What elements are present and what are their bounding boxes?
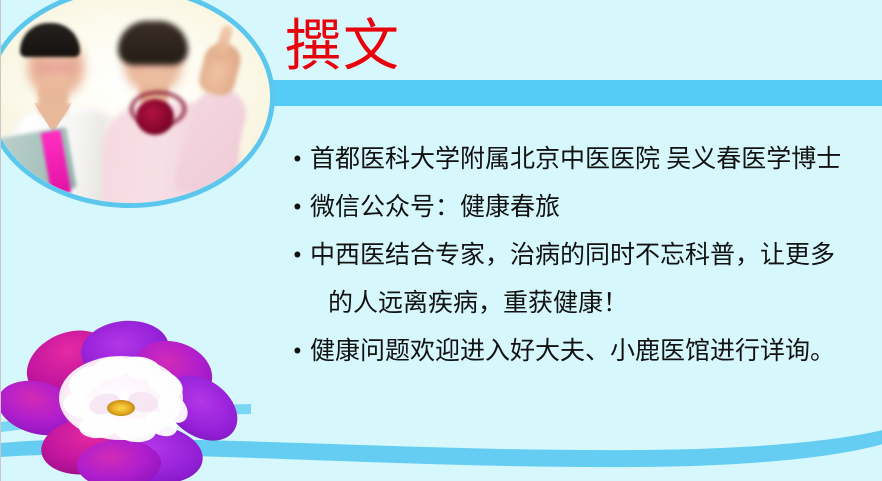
- list-item-text: 的人远离疾病，重获健康！: [310, 280, 881, 328]
- bullet-dot-icon: •: [293, 232, 310, 280]
- left-doctor-cap: [20, 23, 80, 57]
- photo-inner: [0, 0, 270, 203]
- list-item-text: 首都医科大学附属北京中医医院 吴义春医学博士: [310, 136, 881, 184]
- right-person-hair: [118, 21, 188, 65]
- list-item-text: 健康问题欢迎进入好大夫、小鹿医馆进行详询。: [310, 328, 881, 376]
- bullet-dot-icon: •: [293, 328, 310, 376]
- list-item: • 首都医科大学附属北京中医医院 吴义春医学博士: [293, 136, 881, 184]
- peony-flower: [0, 312, 247, 481]
- list-item: • 微信公众号：健康春旅: [293, 184, 881, 232]
- presentation-slide: 撰文 • 首都医科大学附属北京中医医院 吴义春医学博士 • 微信公众号：健康春旅…: [0, 0, 882, 481]
- list-item-text: 中西医结合专家，治病的同时不忘科普，让更多: [310, 232, 881, 280]
- slide-title: 撰文: [285, 14, 401, 80]
- list-item-text: 微信公众号：健康春旅: [310, 184, 881, 232]
- list-item: • 健康问题欢迎进入好大夫、小鹿医馆进行详询。: [293, 328, 881, 376]
- list-item: • 中西医结合专家，治病的同时不忘科普，让更多: [293, 232, 881, 280]
- header-accent-band: [259, 80, 882, 106]
- flower-stamen: [107, 400, 135, 416]
- right-person-rose-brooch: [136, 99, 174, 135]
- list-item-continuation: • 的人远离疾病，重获健康！: [293, 280, 881, 328]
- right-person-arm: [172, 82, 252, 202]
- bullet-dot-icon: •: [293, 136, 310, 184]
- doctors-oval-photo: [0, 0, 275, 208]
- bullet-list: • 首都医科大学附属北京中医医院 吴义春医学博士 • 微信公众号：健康春旅 • …: [293, 136, 881, 376]
- bullet-dot-icon: •: [293, 184, 310, 232]
- left-doctor-face-blur-overlay: [34, 57, 78, 77]
